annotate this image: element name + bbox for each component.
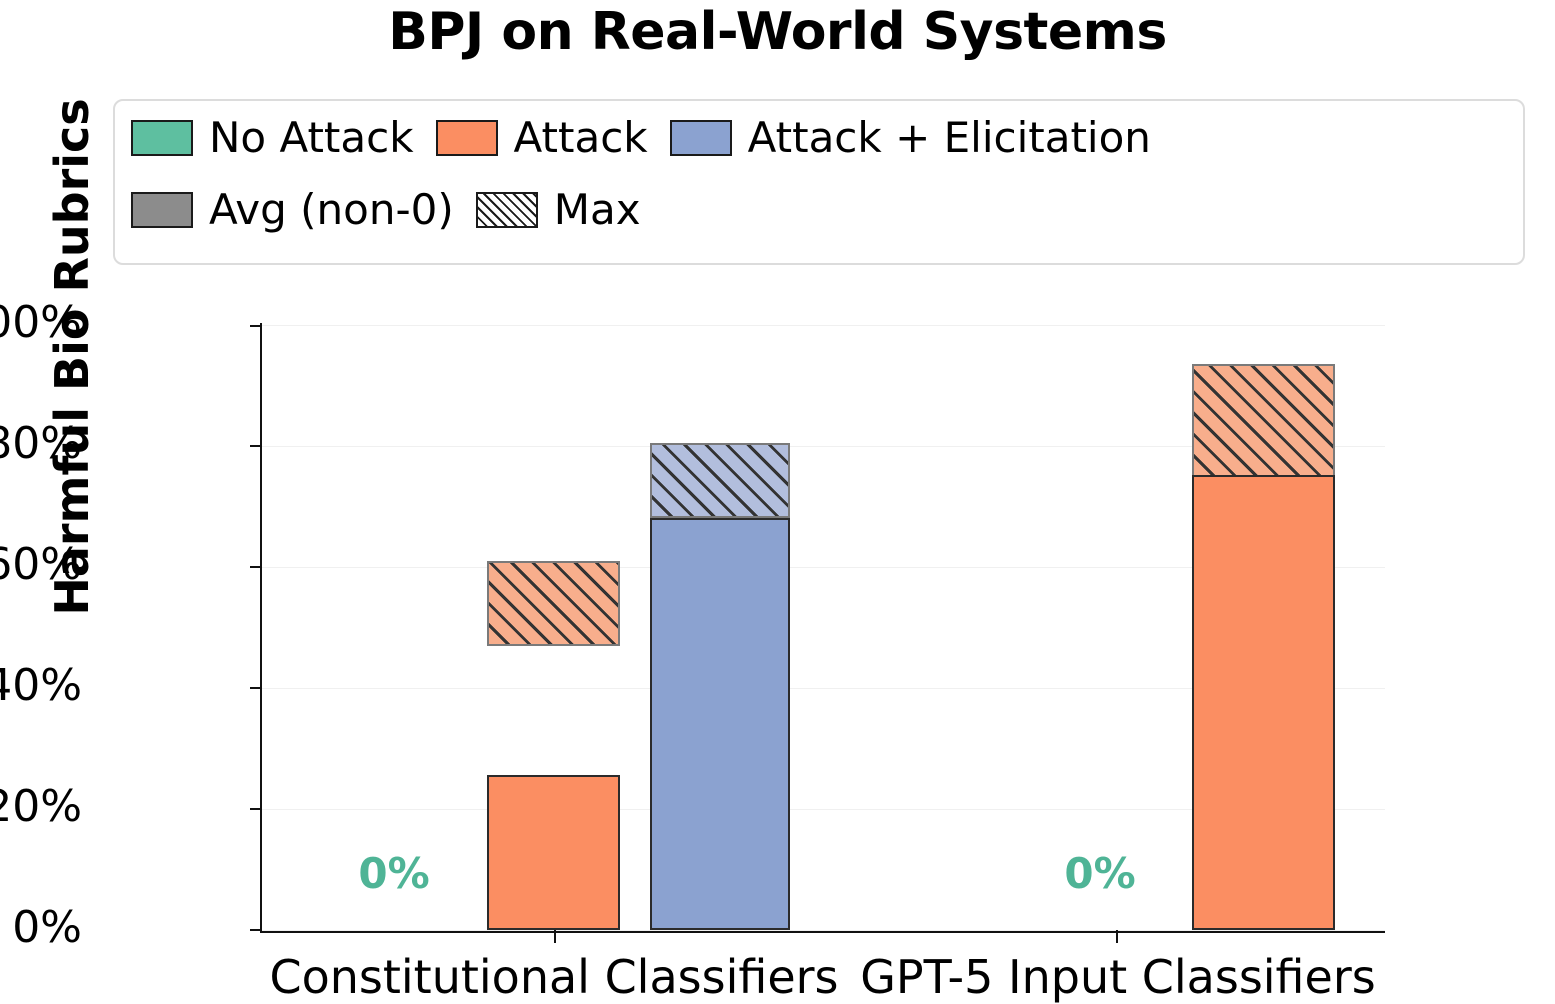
bar-annotation-gpt5-no-attack: 0% [1064,849,1135,898]
bar-cc-attack-elicitation-avg[interactable] [650,518,790,930]
legend-label-attack: Attack [514,117,648,159]
gridline-0 [262,930,1385,931]
bar-gpt5-attack-avg[interactable] [1192,475,1335,930]
legend-swatch-max-icon [476,192,538,228]
bar-cc-attack-max[interactable] [487,561,620,646]
legend-label-no-attack: No Attack [209,117,414,159]
legend-item-attack-elicitation[interactable]: Attack + Elicitation [670,117,1151,159]
y-tick-label-100: 100% [0,297,82,348]
bar-gpt5-attack-max[interactable] [1192,364,1335,477]
legend-item-attack[interactable]: Attack [436,117,648,159]
y-tick-mark-0 [250,929,262,931]
chart-canvas: BPJ on Real-World Systems No Attack Atta… [0,0,1555,997]
legend-row-1: No Attack Attack Attack + Elicitation [131,117,1173,159]
bar-annotation-cc-no-attack: 0% [358,849,429,898]
legend-item-avg-non0[interactable]: Avg (non-0) [131,189,454,231]
plot-area: 0% 20% 40% 60% 80% 100% 0% 0% Constituti… [262,325,1385,930]
y-tick-label-20: 20% [0,781,82,832]
page-title: BPJ on Real-World Systems [0,2,1555,62]
y-tick-label-0: 0% [12,902,82,953]
bar-cc-attack-avg[interactable] [487,775,620,930]
legend-row-2: Avg (non-0) Max [131,189,663,231]
y-tick-mark-80 [250,445,262,447]
legend-swatch-avg-non0-icon [131,192,193,228]
y-tick-label-80: 80% [0,418,82,469]
legend-label-attack-elicitation: Attack + Elicitation [748,117,1151,159]
gridline-100 [262,325,1385,326]
y-tick-mark-20 [250,808,262,810]
y-tick-label-60: 60% [0,539,82,590]
x-tick-label-constitutional-classifiers: Constitutional Classifiers [269,950,838,1004]
x-tick-mark-constitutional-classifiers [554,930,556,943]
legend-label-max: Max [554,189,641,231]
y-tick-mark-100 [250,325,262,327]
x-tick-label-gpt5-input-classifiers: GPT-5 Input Classifiers [860,950,1375,1004]
legend-item-no-attack[interactable]: No Attack [131,117,414,159]
bar-cc-attack-elicitation-max[interactable] [650,443,790,518]
y-tick-label-40: 40% [0,660,82,711]
x-tick-mark-gpt5-input-classifiers [1116,930,1118,943]
legend-item-max[interactable]: Max [476,189,641,231]
y-tick-mark-60 [250,566,262,568]
chart-legend: No Attack Attack Attack + Elicitation Av… [113,99,1525,265]
legend-swatch-attack-icon [436,120,498,156]
y-tick-mark-40 [250,687,262,689]
legend-swatch-no-attack-icon [131,120,193,156]
legend-label-avg-non0: Avg (non-0) [209,189,454,231]
legend-swatch-attack-elicitation-icon [670,120,732,156]
